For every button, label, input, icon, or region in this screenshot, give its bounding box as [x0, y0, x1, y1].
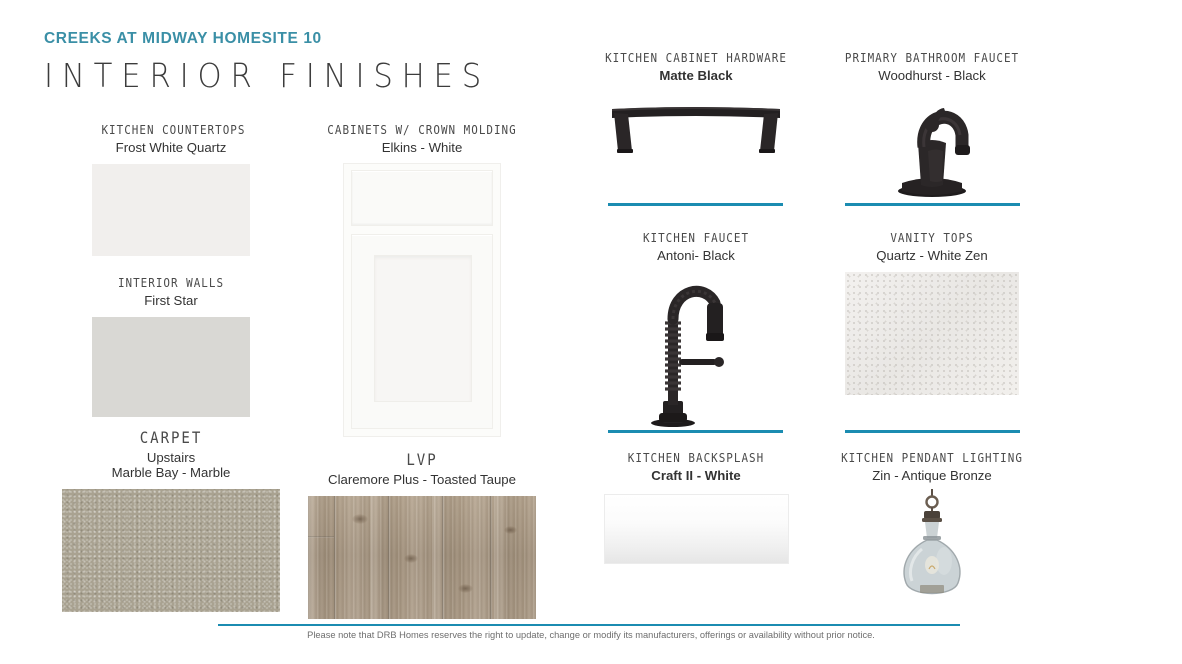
label-primary-bathroom-faucet-sub: Woodhurst - Black [822, 68, 1042, 83]
tile-lvp: LVP Claremore Plus - Toasted Taupe [308, 450, 536, 619]
label-vanity-tops-sub: Quartz - White Zen [822, 248, 1042, 263]
caption-kitchen-backsplash: KITCHEN BACKSPLASH Craft II - White [586, 450, 806, 483]
kitchen-faucet-image [641, 273, 751, 428]
cabinet-door-front [351, 234, 493, 429]
tile-kitchen-pendant-lighting: KITCHEN PENDANT LIGHTING Zin - Antique B… [822, 450, 1042, 609]
swatch-lvp [308, 496, 536, 619]
cabinet-drawer-front [351, 170, 493, 226]
swatch-kitchen-pendant-lighting [822, 489, 1042, 609]
swatch-kitchen-backsplash [586, 494, 806, 564]
label-vanity-tops-head: VANITY TOPS [835, 230, 1029, 245]
subway-tile-image [604, 494, 789, 564]
label-primary-bathroom-faucet-head: PRIMARY BATHROOM FAUCET [835, 50, 1029, 65]
caption-lvp: LVP Claremore Plus - Toasted Taupe [308, 450, 536, 487]
swatch-carpet [62, 489, 280, 612]
caption-kitchen-faucet: KITCHEN FAUCET Antoni- Black [586, 230, 806, 263]
swatch-cabinets [308, 164, 536, 436]
divider-rule-col3-2 [608, 430, 783, 433]
swatch-interior-walls [92, 317, 250, 417]
tile-kitchen-faucet: KITCHEN FAUCET Antoni- Black [586, 230, 806, 428]
label-interior-walls-head: INTERIOR WALLS [101, 275, 240, 290]
caption-kitchen-countertops: KITCHEN COUNTERTOPS Frost White Quartz [92, 122, 250, 155]
interior-finishes-board: CREEKS AT MIDWAY HOMESITE 10 INTERIOR FI… [0, 0, 1182, 664]
tile-kitchen-cabinet-hardware: KITCHEN CABINET HARDWARE Matte Black [586, 50, 806, 157]
caption-interior-walls: INTERIOR WALLS First Star [92, 275, 250, 308]
tile-cabinets: CABINETS W/ CROWN MOLDING Elkins - White [308, 122, 536, 436]
label-lvp-head: LVP [322, 450, 523, 469]
swatch-kitchen-cabinet-hardware [586, 105, 806, 157]
community-subtitle: CREEKS AT MIDWAY HOMESITE 10 [44, 30, 524, 49]
label-cabinets-sub: Elkins - White [308, 140, 536, 155]
caption-cabinets: CABINETS W/ CROWN MOLDING Elkins - White [308, 122, 536, 155]
divider-rule-col4-1 [845, 203, 1020, 206]
tile-carpet: CARPET Upstairs Marble Bay - Marble [62, 428, 280, 612]
swatch-kitchen-faucet [586, 273, 806, 428]
swatch-vanity-tops [822, 272, 1042, 395]
pendant-light-image [882, 489, 982, 609]
label-kitchen-cabinet-hardware-sub: Matte Black [586, 68, 806, 83]
label-kitchen-cabinet-hardware-head: KITCHEN CABINET HARDWARE [599, 50, 793, 65]
tile-kitchen-countertops: KITCHEN COUNTERTOPS Frost White Quartz [92, 122, 250, 256]
swatch-primary-bathroom-faucet [822, 91, 1042, 201]
caption-kitchen-pendant-lighting: KITCHEN PENDANT LIGHTING Zin - Antique B… [822, 450, 1042, 483]
label-cabinets-head: CABINETS W/ CROWN MOLDING [322, 122, 523, 137]
caption-primary-bathroom-faucet: PRIMARY BATHROOM FAUCET Woodhurst - Blac… [822, 50, 1042, 83]
divider-rule-col4-2 [845, 430, 1020, 433]
quartz-texture-image [845, 272, 1019, 395]
label-kitchen-pendant-lighting-head: KITCHEN PENDANT LIGHTING [835, 450, 1029, 465]
label-interior-walls-sub: First Star [92, 293, 250, 308]
label-lvp-sub: Claremore Plus - Toasted Taupe [308, 472, 536, 487]
label-carpet-head: CARPET [75, 428, 267, 447]
label-carpet-sub2: Marble Bay - Marble [62, 465, 280, 480]
cabinet-pull-image [606, 105, 786, 157]
label-carpet-sub: Upstairs [62, 450, 280, 465]
cabinet-center-panel [374, 255, 472, 402]
caption-kitchen-cabinet-hardware: KITCHEN CABINET HARDWARE Matte Black [586, 50, 806, 83]
caption-vanity-tops: VANITY TOPS Quartz - White Zen [822, 230, 1042, 263]
label-kitchen-faucet-sub: Antoni- Black [586, 248, 806, 263]
label-kitchen-backsplash-sub: Craft II - White [586, 468, 806, 483]
bath-faucet-image [872, 91, 992, 201]
cabinet-door-image [344, 164, 500, 436]
page-title: INTERIOR FINISHES [44, 55, 490, 96]
footer-divider-rule [218, 624, 960, 626]
label-kitchen-pendant-lighting-sub: Zin - Antique Bronze [822, 468, 1042, 483]
divider-rule-col3-1 [608, 203, 783, 206]
page-header: CREEKS AT MIDWAY HOMESITE 10 INTERIOR FI… [44, 30, 524, 96]
caption-carpet: CARPET Upstairs Marble Bay - Marble [62, 428, 280, 480]
label-kitchen-backsplash-head: KITCHEN BACKSPLASH [599, 450, 793, 465]
label-kitchen-countertops-sub: Frost White Quartz [92, 140, 250, 155]
tile-vanity-tops: VANITY TOPS Quartz - White Zen [822, 230, 1042, 395]
footer-disclaimer: Please note that DRB Homes reserves the … [0, 630, 1182, 640]
label-kitchen-countertops-head: KITCHEN COUNTERTOPS [101, 122, 240, 137]
label-kitchen-faucet-head: KITCHEN FAUCET [599, 230, 793, 245]
tile-primary-bathroom-faucet: PRIMARY BATHROOM FAUCET Woodhurst - Blac… [822, 50, 1042, 201]
tile-interior-walls: INTERIOR WALLS First Star [92, 275, 250, 417]
swatch-kitchen-countertops [92, 164, 250, 256]
tile-kitchen-backsplash: KITCHEN BACKSPLASH Craft II - White [586, 450, 806, 564]
